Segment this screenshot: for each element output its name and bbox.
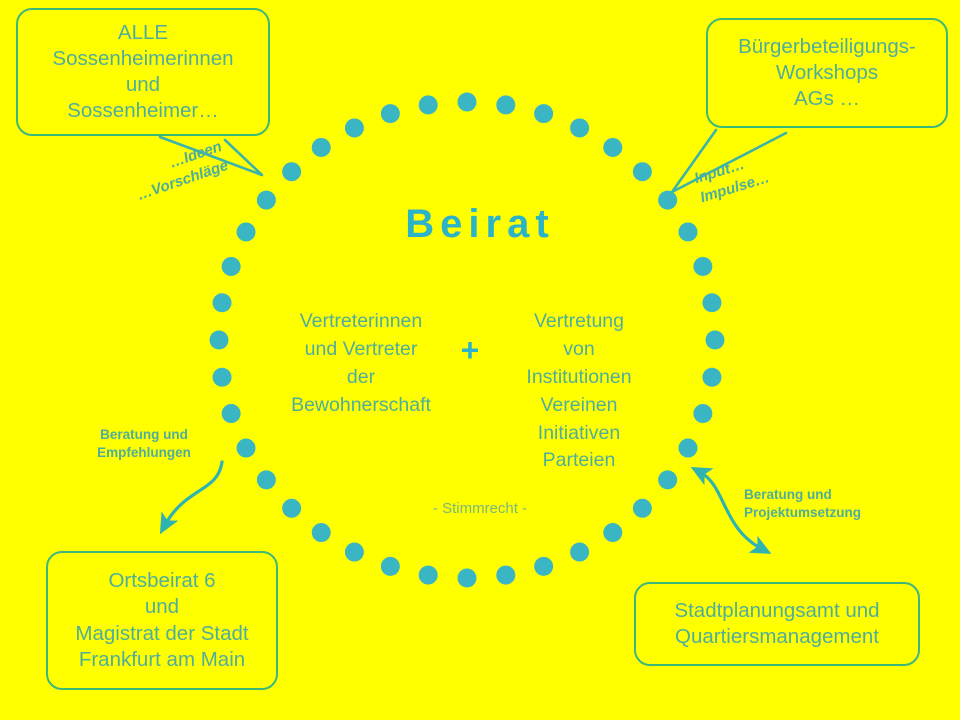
- ring-dot: [702, 368, 721, 387]
- ring-dot: [282, 162, 301, 181]
- ring-dot: [570, 543, 589, 562]
- ring-dot: [633, 162, 652, 181]
- ring-dot: [381, 104, 400, 123]
- box-city-planning: Stadtplanungsamt und Quartiersmanagement: [634, 582, 920, 666]
- ring-dot: [312, 138, 331, 157]
- column-residents: Vertreterinnen und Vertreter der Bewohne…: [272, 308, 450, 420]
- ring-dot: [345, 543, 364, 562]
- diagram-canvas: Beirat Vertreterinnen und Vertreter der …: [0, 0, 960, 720]
- ring-dot: [534, 104, 553, 123]
- annotation-input: Input… Impulse…: [692, 149, 772, 209]
- ring-dot: [213, 368, 232, 387]
- column-institutions: Vertretung von Institutionen Vereinen In…: [490, 308, 668, 475]
- box-local-council: Ortsbeirat 6 und Magistrat der Stadt Fra…: [46, 551, 278, 690]
- plus-icon: +: [450, 308, 490, 366]
- bubble-participation-workshops: Bürgerbeteiligungs- Workshops AGs …: [706, 18, 948, 128]
- ring-dot: [693, 257, 712, 276]
- ring-dot: [419, 566, 438, 585]
- center-columns: Vertreterinnen und Vertreter der Bewohne…: [250, 308, 690, 475]
- ring-dot: [312, 523, 331, 542]
- annotation-ideas: …Ideen …Vorschläge: [128, 137, 231, 206]
- label-advice-recommendations: Beratung und Empfehlungen: [76, 426, 212, 462]
- ring-dot: [222, 257, 241, 276]
- ring-dot: [496, 566, 515, 585]
- ring-dot: [693, 404, 712, 423]
- ring-dot: [496, 95, 515, 114]
- ring-dot: [534, 557, 553, 576]
- ring-dot: [603, 523, 622, 542]
- ring-dot: [345, 118, 364, 137]
- ring-dot: [570, 118, 589, 137]
- ring-dot: [458, 569, 477, 588]
- ring-dot: [706, 331, 725, 350]
- ring-dot: [419, 95, 438, 114]
- ring-dot: [603, 138, 622, 157]
- page-title: Beirat: [0, 202, 960, 247]
- ring-dot: [702, 293, 721, 312]
- ring-dot: [458, 93, 477, 112]
- label-advice-project: Beratung und Projektumsetzung: [744, 486, 912, 522]
- bubble-all-residents: ALLE Sossenheimerinnen und Sossenheimer…: [16, 8, 270, 136]
- ring-dot: [210, 331, 229, 350]
- ring-dot: [213, 293, 232, 312]
- ring-dot: [222, 404, 241, 423]
- ring-dot: [381, 557, 400, 576]
